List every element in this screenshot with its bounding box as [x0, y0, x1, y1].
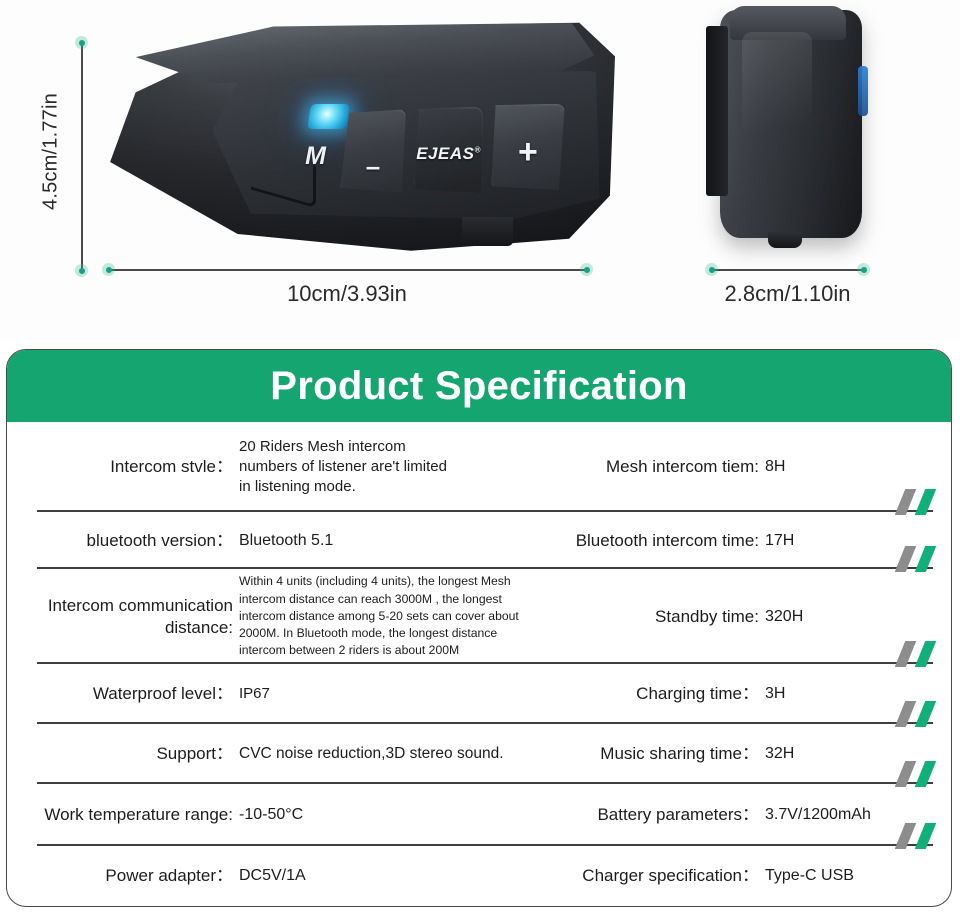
product-device-front-view: Μ – EJEAS® + — [105, 18, 615, 258]
row-label-left: Intercom communication distance: — [33, 595, 239, 639]
row-value-right: 17H — [765, 530, 935, 551]
dimension-line-height — [81, 42, 83, 270]
row-value-left: Bluetooth 5.1 — [239, 530, 535, 551]
led-indicator-icon — [307, 104, 350, 129]
row-label-left: Power adapter： — [33, 865, 239, 887]
row-value-right: 3H — [765, 683, 935, 704]
row-label-left: Support： — [33, 743, 239, 765]
row-label-left: Work temperature range: — [33, 804, 239, 826]
row-label-right: Charging time： — [535, 683, 765, 705]
table-row: bluetooth version： Bluetooth 5.1 Bluetoo… — [7, 512, 951, 569]
product-image-area: Μ – EJEAS® + 4.5cm/1.77in 10cm/3.93in — [0, 0, 960, 340]
row-label-left: Waterproof level： — [33, 683, 239, 705]
row-label-right: Standby time: — [535, 606, 765, 628]
row-value-right: 3.7V/1200mAh — [765, 804, 935, 825]
row-value-left: CVC noise reduction,3D stereo sound. — [239, 744, 535, 765]
plus-icon: + — [491, 135, 565, 169]
dimension-label-width: 10cm/3.93in — [108, 281, 586, 307]
row-value-right: 8H — [765, 456, 935, 477]
dimension-endpoint-dot — [102, 263, 115, 276]
table-row: Intercom stvle： 20 Riders Mesh intercom … — [7, 422, 951, 512]
dimension-endpoint-dot — [857, 263, 870, 276]
page-title: Product Specification — [270, 364, 687, 409]
row-value-left: IP67 — [239, 684, 535, 704]
table-row: Support： CVC noise reduction,3D stereo s… — [7, 724, 951, 784]
specification-header: Product Specification — [7, 350, 951, 422]
row-label-right: Charger specification： — [535, 865, 765, 887]
row-label-right: Mesh intercom tiem: — [535, 456, 765, 478]
table-row: Waterproof level： IP67 Charging time： 3H — [7, 664, 951, 724]
specification-card: Product Specification Intercom stvle： 20… — [6, 349, 952, 907]
minus-icon: – — [340, 153, 406, 179]
table-row: Power adapter： DC5V/1A Charger specifica… — [7, 846, 951, 906]
row-label-right: Music sharing time： — [535, 743, 765, 765]
dimension-line-width — [108, 269, 586, 271]
dimension-endpoint-dot — [580, 263, 593, 276]
dimension-label-depth: 2.8cm/1.10in — [700, 281, 875, 307]
row-value-left: DC5V/1A — [239, 865, 535, 886]
dimension-endpoint-dot — [705, 263, 718, 276]
row-value-left: Within 4 units (including 4 units), the … — [239, 573, 535, 660]
row-label-left: Intercom stvle： — [33, 456, 239, 478]
row-label-left: bluetooth version： — [33, 530, 239, 552]
table-row: Intercom communication distance: Within … — [7, 569, 951, 664]
device-button-face: Μ – EJEAS® + — [212, 71, 600, 220]
row-value-left: -10-50°C — [239, 804, 535, 825]
device-mount-foot — [462, 217, 513, 246]
dimension-endpoint-dot — [75, 264, 88, 277]
brand-registered-mark: ® — [474, 146, 480, 155]
plus-button[interactable]: + — [491, 104, 565, 190]
dimension-line-depth — [711, 269, 863, 271]
row-label-right: Bluetooth intercom time: — [535, 530, 765, 552]
dimension-label-height: 4.5cm/1.77in — [40, 72, 63, 232]
product-device-side-view — [706, 6, 878, 252]
row-value-left: 20 Riders Mesh intercom numbers of liste… — [239, 437, 535, 497]
row-value-right: 32H — [765, 743, 935, 764]
side-blue-accent — [858, 66, 868, 116]
minus-button[interactable]: – — [340, 109, 406, 192]
dimension-endpoint-dot — [75, 36, 88, 49]
side-mount-foot — [768, 232, 802, 248]
side-highlight — [742, 32, 812, 182]
row-label-right: Battery parameters： — [535, 804, 765, 826]
row-value-right: Type-C USB — [765, 865, 935, 886]
row-value-right: 320H — [765, 606, 935, 627]
specification-rows: Intercom stvle： 20 Riders Mesh intercom … — [7, 422, 951, 906]
table-row: Work temperature range: -10-50°C Battery… — [7, 784, 951, 846]
brand-center-button[interactable]: EJEAS® — [414, 107, 484, 193]
brand-logo: EJEAS® — [414, 144, 484, 164]
side-mount-panel — [706, 26, 728, 196]
brand-text: EJEAS — [416, 144, 474, 163]
